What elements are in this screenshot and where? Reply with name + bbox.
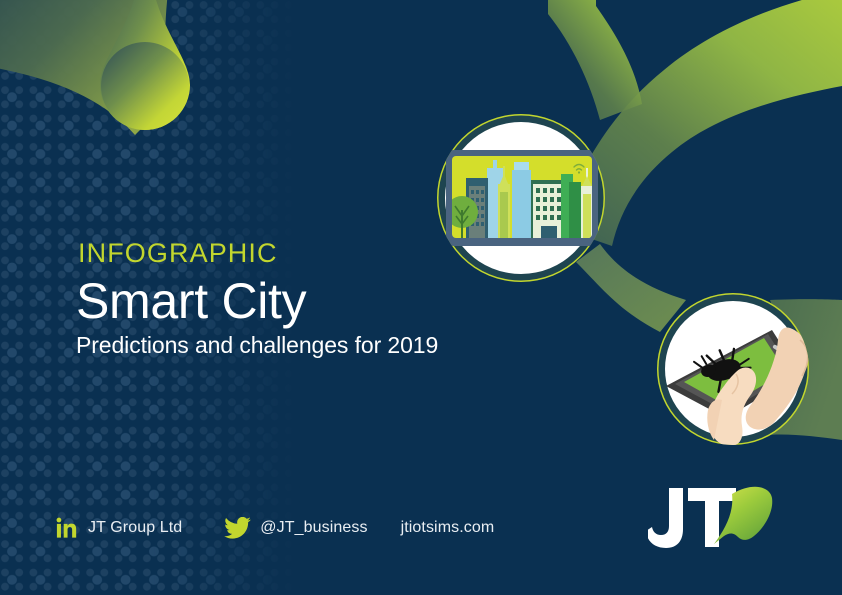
footer-contact-bar: JT Group Ltd @JT_business jtiotsims.com <box>56 517 494 539</box>
page-subtitle: Predictions and challenges for 2019 <box>76 332 438 358</box>
footer-linkedin[interactable]: JT Group Ltd <box>56 517 182 539</box>
logo-letter-t <box>688 488 736 547</box>
page-eyebrow: INFOGRAPHIC <box>78 240 438 267</box>
linkedin-label: JT Group Ltd <box>88 519 182 537</box>
page-title: Smart City <box>76 276 438 326</box>
decor-blob-top-left <box>0 0 190 135</box>
footer-twitter[interactable]: @JT_business <box>224 517 367 539</box>
footer-website[interactable]: jtiotsims.com <box>401 519 495 537</box>
illustration-smart-city-phone <box>437 114 605 282</box>
hero-text-block: INFOGRAPHIC Smart City Predictions and c… <box>76 240 438 358</box>
twitter-icon[interactable] <box>224 517 251 539</box>
infographic-cover: INFOGRAPHIC Smart City Predictions and c… <box>0 0 842 595</box>
website-label: jtiotsims.com <box>401 519 495 537</box>
linkedin-icon[interactable] <box>56 517 78 539</box>
jt-logo[interactable] <box>648 482 774 554</box>
logo-letter-j <box>648 488 683 548</box>
illustration-tablet-malware <box>657 293 809 446</box>
twitter-label: @JT_business <box>260 519 367 537</box>
decor-connector-bridge <box>576 244 686 332</box>
